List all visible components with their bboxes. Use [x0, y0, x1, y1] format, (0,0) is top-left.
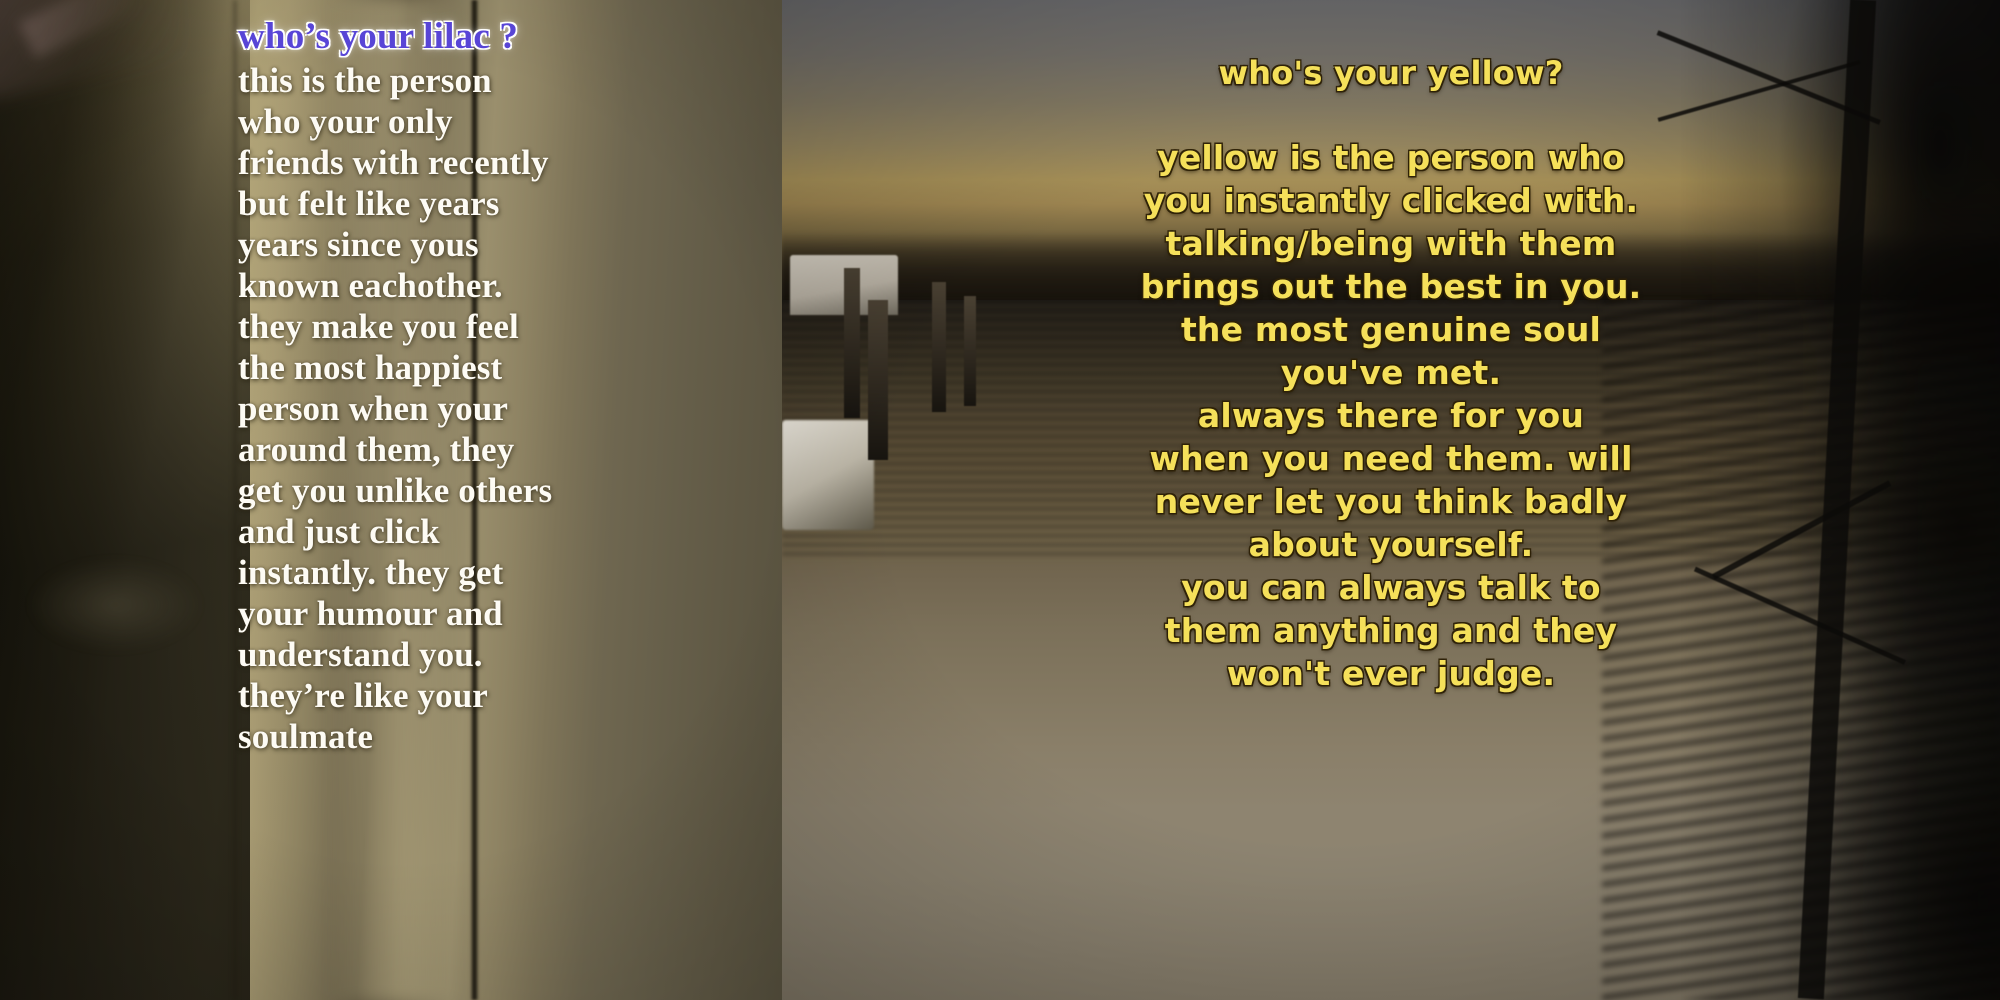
yellow-title: who's your yellow? [842, 54, 1940, 92]
lilac-line: they’re like your [238, 675, 758, 716]
left-shadow-region [0, 0, 250, 1000]
lilac-line: friends with recently [238, 142, 758, 183]
yellow-line: when you need them. will [842, 437, 1940, 480]
yellow-line: won't ever judge. [842, 652, 1940, 695]
yellow-line: yellow is the person who [842, 136, 1940, 179]
lilac-line: around them, they [238, 429, 758, 470]
lilac-line: understand you. [238, 634, 758, 675]
lilac-line: they make you feel [238, 306, 758, 347]
lilac-line: soulmate [238, 716, 758, 757]
right-panel-yellow: who's your yellow? yellow is the person … [782, 0, 2000, 1000]
left-panel-lilac: who’s your lilac ? this is the person wh… [0, 0, 782, 1000]
yellow-line: never let you think badly [842, 480, 1940, 523]
yellow-line: always there for you [842, 394, 1940, 437]
lilac-line: this is the person [238, 60, 758, 101]
yellow-line: about yourself. [842, 523, 1940, 566]
yellow-line: you instantly clicked with. [842, 179, 1940, 222]
lilac-title: who’s your lilac ? [238, 16, 758, 58]
lilac-line: person when your [238, 388, 758, 429]
yellow-line: you've met. [842, 351, 1940, 394]
lilac-line: your humour and [238, 593, 758, 634]
lilac-line: who your only [238, 101, 758, 142]
yellow-line: brings out the best in you. [842, 265, 1940, 308]
image-canvas: who’s your lilac ? this is the person wh… [0, 0, 2000, 1000]
right-text-overlay: who's your yellow? yellow is the person … [782, 54, 2000, 695]
left-text-overlay: who’s your lilac ? this is the person wh… [238, 16, 758, 757]
lilac-line: known eachother. [238, 265, 758, 306]
lilac-line: instantly. they get [238, 552, 758, 593]
lilac-line: the most happiest [238, 347, 758, 388]
lilac-line: but felt like years [238, 183, 758, 224]
lilac-line: get you unlike others [238, 470, 758, 511]
yellow-line: talking/being with them [842, 222, 1940, 265]
yellow-line: you can always talk to [842, 566, 1940, 609]
lilac-line: and just click [238, 511, 758, 552]
left-light-smudge [30, 560, 200, 650]
lilac-body-text: this is the person who your only friends… [238, 60, 758, 757]
lilac-line: years since yous [238, 224, 758, 265]
yellow-line: them anything and they [842, 609, 1940, 652]
yellow-line: the most genuine soul [842, 308, 1940, 351]
yellow-body-text: yellow is the person who you instantly c… [842, 136, 1940, 695]
